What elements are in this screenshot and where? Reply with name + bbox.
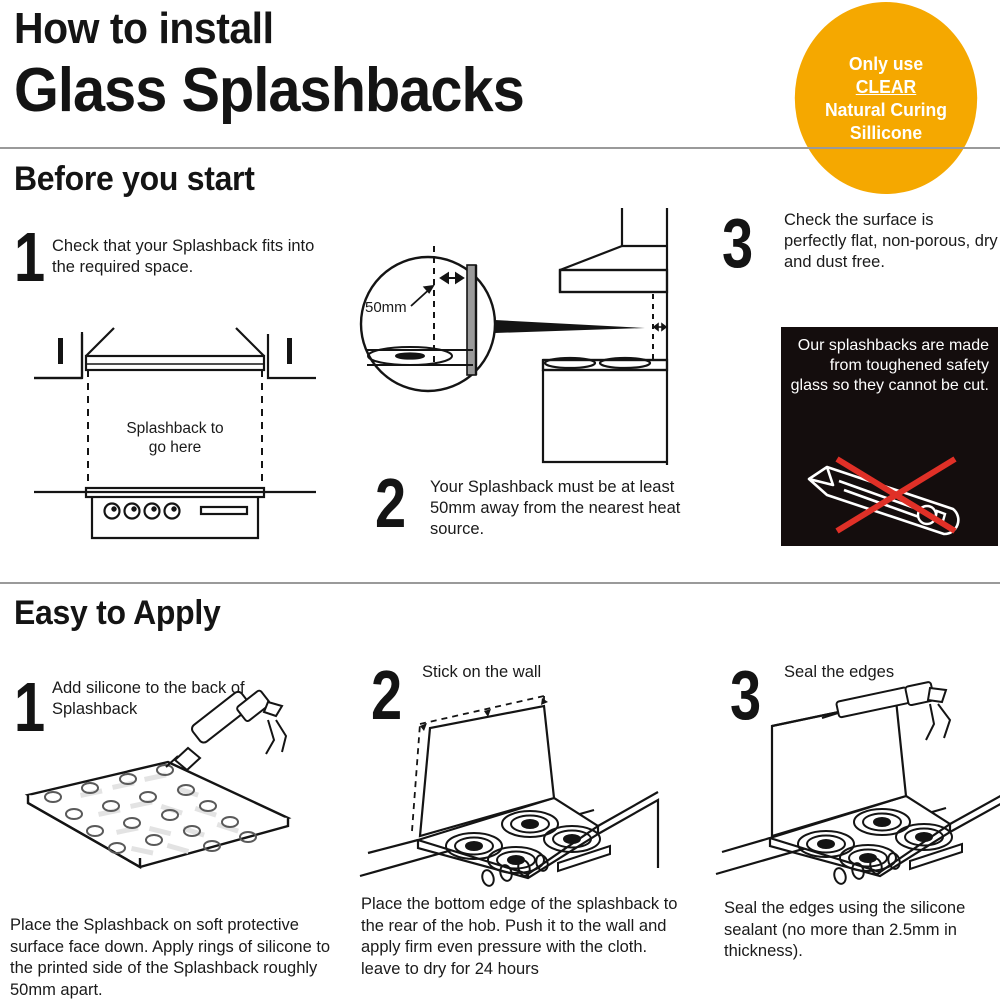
- warning-box-text: Our splashbacks are made from toughened …: [789, 336, 989, 396]
- section-heading-easy-to-apply: Easy to Apply: [14, 594, 221, 633]
- badge-line-2: Natural Curing: [825, 98, 947, 121]
- diagram-splashback-space: Splashback to go here: [20, 320, 330, 550]
- step-text-before-1: Check that your Splashback fits into the…: [52, 236, 322, 278]
- step-body-apply-1: Place the Splashback on soft protective …: [10, 915, 340, 1000]
- divider-top: [0, 147, 1000, 149]
- diagram-label-fifty-mm: 50mm: [365, 299, 407, 316]
- diagram-label-splashback-here-line2: go here: [149, 439, 202, 456]
- step-text-apply-3: Seal the edges: [784, 662, 1000, 683]
- step-text-apply-2: Stick on the wall: [422, 662, 672, 683]
- badge-line-1-prefix: Only use: [849, 52, 923, 75]
- section-heading-before-you-start: Before you start: [14, 160, 255, 199]
- step-number-before-2: 2: [375, 468, 406, 538]
- divider-middle: [0, 582, 1000, 584]
- badge-line-1-emphasis: CLEAR: [849, 75, 923, 98]
- diagram-silicone-application: [20, 700, 320, 900]
- page-title-line-2: Glass Splashbacks: [14, 58, 524, 124]
- step-body-apply-2: Place the bottom edge of the splashback …: [361, 894, 691, 980]
- warning-box-no-cutting: Our splashbacks are made from toughened …: [781, 327, 998, 546]
- step-number-before-3: 3: [722, 208, 753, 278]
- badge-line-3: Sillicone: [850, 121, 922, 144]
- badge-line-1: Only use CLEAR: [849, 52, 923, 98]
- diagram-stick-on-wall: [358, 688, 698, 878]
- diagram-label-splashback-here-line1: Splashback to: [126, 420, 223, 437]
- step-body-apply-3: Seal the edges using the silicone sealan…: [724, 898, 1000, 963]
- step-text-before-2: Your Splashback must be at least 50mm aw…: [430, 477, 690, 540]
- page-title-line-1: How to install: [14, 6, 273, 52]
- clear-silicone-badge: Only use CLEAR Natural Curing Sillicone: [795, 2, 977, 194]
- diagram-heat-source-clearance: 50mm: [355, 200, 700, 465]
- diagram-seal-the-edges: [714, 686, 1000, 876]
- knife-crossed-out-icon: [803, 457, 983, 537]
- infographic-page: How to install Glass Splashbacks Only us…: [0, 0, 1000, 1000]
- step-number-before-1: 1: [14, 222, 45, 292]
- step-text-before-3: Check the surface is perfectly flat, non…: [784, 210, 999, 273]
